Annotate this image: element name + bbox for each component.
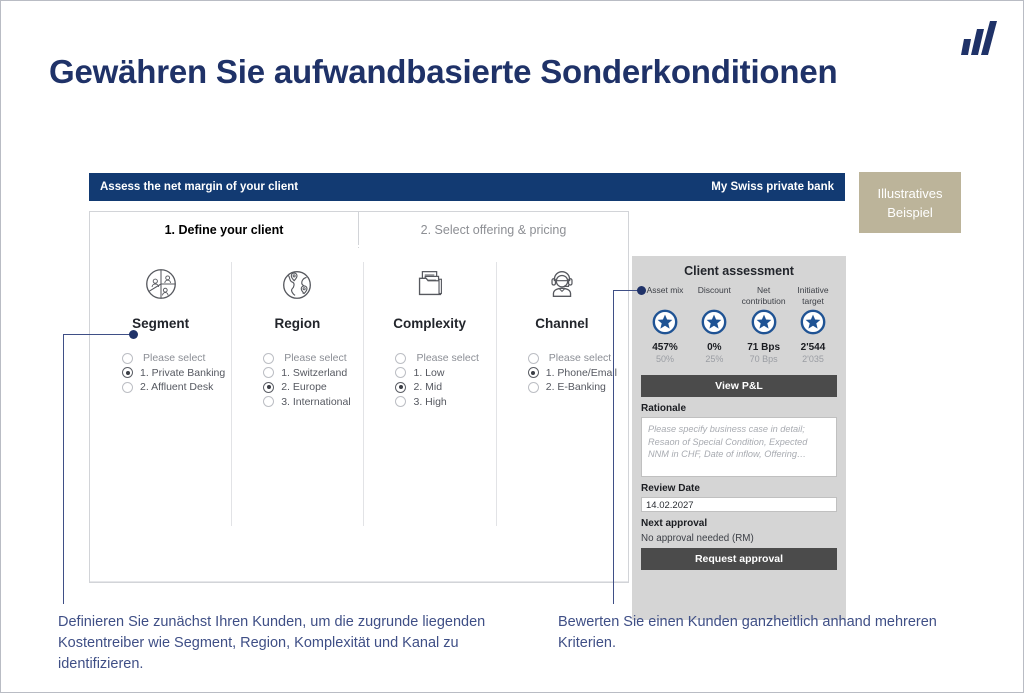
radio-icon[interactable]	[122, 367, 133, 378]
region-options: Please select 1. Switzerland 2. Europe	[263, 351, 357, 409]
option-label: 1. Low	[413, 367, 444, 379]
radio-icon[interactable]	[528, 353, 539, 364]
option-label: 1. Switzerland	[281, 367, 347, 379]
option-channel-phone-email[interactable]: 1. Phone/Email	[528, 366, 622, 381]
tab-select-offering-pricing-label: 2. Select offering & pricing	[421, 223, 567, 237]
badge-line-1: Illustratives	[877, 184, 942, 203]
bar-chart-logo-icon	[957, 21, 999, 55]
headset-agent-icon	[502, 260, 622, 308]
option-channel-e-banking[interactable]: 2. E-Banking	[528, 380, 622, 395]
folder-documents-icon	[369, 260, 489, 308]
complexity-options: Please select 1. Low 2. Mid 3. High	[395, 351, 489, 409]
illustrative-example-badge: Illustratives Beispiel	[859, 172, 961, 233]
page-title: Gewähren Sie aufwandbasierte Sonderkondi…	[49, 53, 837, 91]
option-segment-private-banking[interactable]: 1. Private Banking	[122, 366, 225, 381]
review-date-input[interactable]: 14.02.2027	[641, 497, 837, 512]
connector-dot	[637, 286, 646, 295]
channel-options: Please select 1. Phone/Email 2. E-Bankin…	[528, 351, 622, 395]
kpi-target: 70 Bps	[740, 354, 788, 364]
callout-text-right: Bewerten Sie einen Kunden ganzheitlich a…	[558, 612, 958, 654]
kpi-discount: Discount 0% 25%	[690, 285, 738, 364]
option-label: 2. Europe	[281, 381, 327, 393]
option-region-international[interactable]: 3. International	[263, 395, 357, 410]
column-title-region: Region	[237, 316, 357, 331]
connector-dot	[129, 330, 138, 339]
radio-icon[interactable]	[395, 382, 406, 393]
star-badge-icon	[701, 309, 727, 335]
next-approval-status: No approval needed (RM)	[641, 533, 837, 544]
app-header-bank-name: My Swiss private bank	[711, 181, 834, 193]
client-assessment-title: Client assessment	[641, 264, 837, 278]
option-label: 2. Affluent Desk	[140, 381, 213, 393]
kpi-name: Net contribution	[740, 285, 788, 306]
tab-select-offering-pricing[interactable]: 2. Select offering & pricing	[359, 211, 629, 248]
option-label: Please select	[281, 352, 346, 364]
kpi-value: 457%	[641, 342, 689, 353]
column-title-channel: Channel	[502, 316, 622, 331]
option-complexity-low[interactable]: 1. Low	[395, 366, 489, 381]
option-label: 1. Private Banking	[140, 367, 225, 379]
kpi-target: 50%	[641, 354, 689, 364]
radio-icon[interactable]	[122, 353, 133, 364]
rationale-input[interactable]: Please specify business case in detail; …	[641, 417, 837, 477]
app-header-bar: Assess the net margin of your client My …	[89, 173, 845, 201]
kpi-value: 0%	[690, 342, 738, 353]
star-badge-icon	[652, 309, 678, 335]
rationale-label: Rationale	[641, 403, 837, 414]
option-region-switzerland[interactable]: 1. Switzerland	[263, 366, 357, 381]
request-approval-button[interactable]: Request approval	[641, 548, 837, 570]
criteria-columns: Segment Please select 1. Private Banking	[90, 246, 628, 536]
kpi-initiative-target: Initiative target 2'544 2'035	[789, 285, 837, 364]
radio-icon[interactable]	[395, 353, 406, 364]
tab-define-your-client-label: 1. Define your client	[165, 223, 284, 237]
callout-text-left: Definieren Sie zunächst Ihren Kunden, um…	[58, 612, 528, 675]
radio-icon[interactable]	[263, 382, 274, 393]
option-segment-please-select[interactable]: Please select	[122, 351, 225, 366]
kpi-value: 2'544	[789, 342, 837, 353]
criteria-column-channel: Channel Please select 1. Phone/Email	[496, 260, 628, 536]
option-label: Please select	[140, 352, 205, 364]
kpi-row: Asset mix 457% 50% Discount	[641, 285, 837, 364]
option-label: Please select	[413, 352, 478, 364]
option-segment-affluent-desk[interactable]: 2. Affluent Desk	[122, 380, 225, 395]
kpi-target: 2'035	[789, 354, 837, 364]
kpi-target: 25%	[690, 354, 738, 364]
option-complexity-please-select[interactable]: Please select	[395, 351, 489, 366]
kpi-net-contribution: Net contribution 71 Bps 70 Bps	[740, 285, 788, 364]
option-label: 1. Phone/Email	[546, 367, 617, 379]
option-label: 2. Mid	[413, 381, 442, 393]
column-title-segment: Segment	[96, 316, 225, 331]
kpi-name: Discount	[690, 285, 738, 306]
criteria-column-segment: Segment Please select 1. Private Banking	[90, 260, 231, 536]
column-title-complexity: Complexity	[369, 316, 489, 331]
segment-options: Please select 1. Private Banking 2. Affl…	[122, 351, 225, 395]
option-label: 3. High	[413, 396, 446, 408]
option-label: 3. International	[281, 396, 350, 408]
app-mockup: Assess the net margin of your client My …	[89, 173, 845, 583]
star-badge-icon	[800, 309, 826, 335]
client-assessment-panel: Client assessment Asset mix 457% 50% Dis…	[632, 256, 846, 620]
slide-canvas: Gewähren Sie aufwandbasierte Sonderkondi…	[0, 0, 1024, 693]
globe-pins-icon	[237, 260, 357, 308]
radio-icon[interactable]	[122, 382, 133, 393]
option-label: 2. E-Banking	[546, 381, 606, 393]
radio-icon[interactable]	[263, 353, 274, 364]
tab-bar: 1. Define your client 2. Select offering…	[89, 211, 845, 247]
view-pl-button[interactable]: View P&L	[641, 375, 837, 397]
active-tab-seam	[90, 245, 360, 247]
kpi-value: 71 Bps	[740, 342, 788, 353]
kpi-name: Initiative target	[789, 285, 837, 306]
criteria-column-complexity: Complexity Please select 1. Low 2. Mi	[363, 260, 495, 536]
option-region-europe[interactable]: 2. Europe	[263, 380, 357, 395]
badge-line-2: Beispiel	[887, 203, 933, 222]
kpi-name: Asset mix	[641, 285, 689, 306]
criteria-column-region: Region Please select 1. Switzerland 2	[231, 260, 363, 536]
option-complexity-mid[interactable]: 2. Mid	[395, 380, 489, 395]
next-approval-label: Next approval	[641, 518, 837, 529]
option-channel-please-select[interactable]: Please select	[528, 351, 622, 366]
segment-pie-people-icon	[96, 260, 225, 308]
kpi-asset-mix: Asset mix 457% 50%	[641, 285, 689, 364]
app-header-title: Assess the net margin of your client	[100, 181, 298, 193]
radio-icon[interactable]	[395, 396, 406, 407]
radio-icon[interactable]	[395, 367, 406, 378]
radio-icon[interactable]	[263, 396, 274, 407]
option-region-please-select[interactable]: Please select	[263, 351, 357, 366]
star-badge-icon	[751, 309, 777, 335]
radio-icon[interactable]	[528, 367, 539, 378]
define-client-panel: Segment Please select 1. Private Banking	[89, 246, 629, 583]
radio-icon[interactable]	[528, 382, 539, 393]
option-label: Please select	[546, 352, 611, 364]
radio-icon[interactable]	[263, 367, 274, 378]
review-date-label: Review Date	[641, 483, 837, 494]
columns-bottom-divider	[90, 581, 628, 582]
option-complexity-high[interactable]: 3. High	[395, 395, 489, 410]
tab-define-your-client[interactable]: 1. Define your client	[89, 211, 359, 248]
